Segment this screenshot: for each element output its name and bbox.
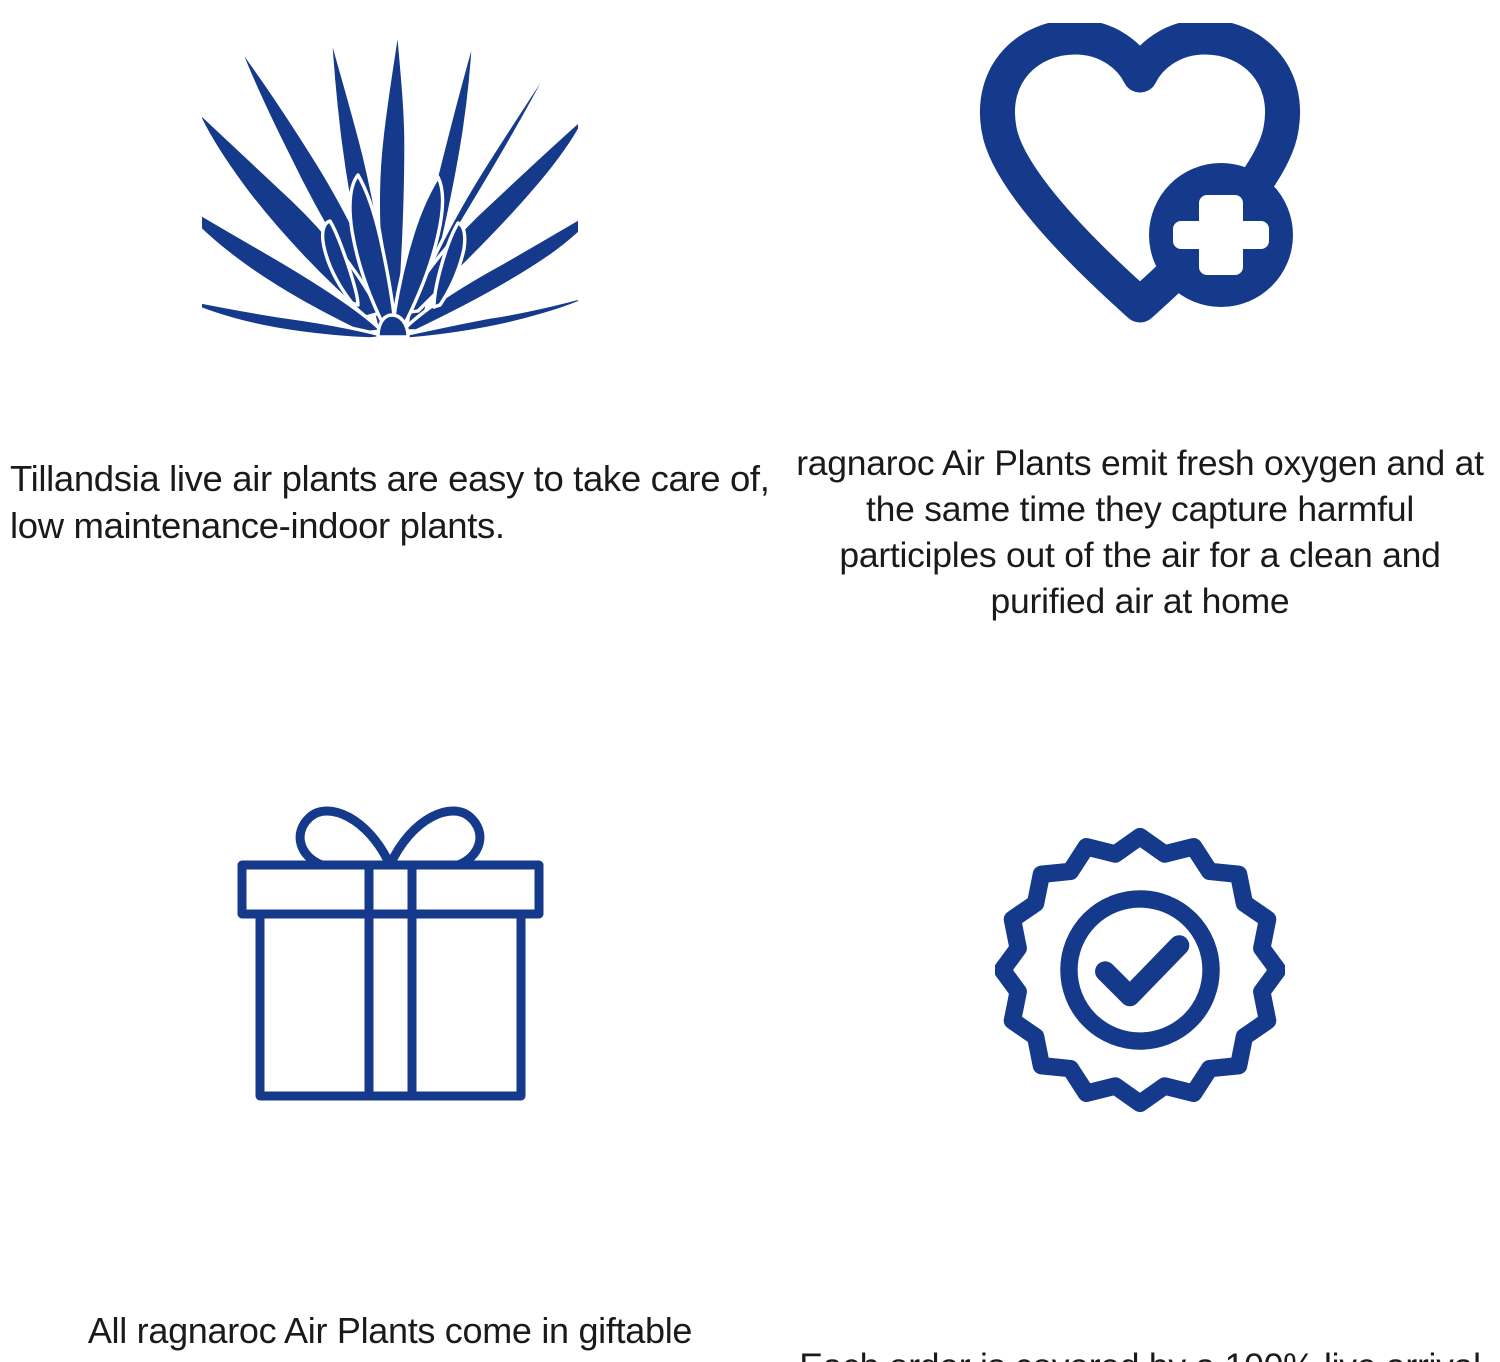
feature-card-air-purifying: ragnaroc Air Plants emit fresh oxygen an…	[780, 0, 1500, 655]
feature-card-live-arrival-guarantee: Each order is covered by a 100% live arr…	[780, 655, 1500, 1362]
feature-grid: Tillandsia live air plants are easy to t…	[0, 0, 1500, 1362]
feature-caption: Tillandsia live air plants are easy to t…	[10, 455, 770, 550]
heart-plus-icon	[975, 0, 1305, 345]
air-plant-icon	[202, 0, 578, 345]
gift-box-icon	[218, 655, 563, 1195]
guarantee-badge-icon	[995, 655, 1285, 1225]
feature-caption: ragnaroc Air Plants emit fresh oxygen an…	[790, 440, 1490, 625]
feature-card-giftable-packaging: All ragnaroc Air Plants come in giftable…	[0, 655, 780, 1362]
feature-caption: Each order is covered by a 100% live arr…	[790, 1343, 1490, 1362]
feature-card-low-maintenance: Tillandsia live air plants are easy to t…	[0, 0, 780, 655]
feature-caption: All ragnaroc Air Plants come in giftable…	[20, 1307, 760, 1362]
